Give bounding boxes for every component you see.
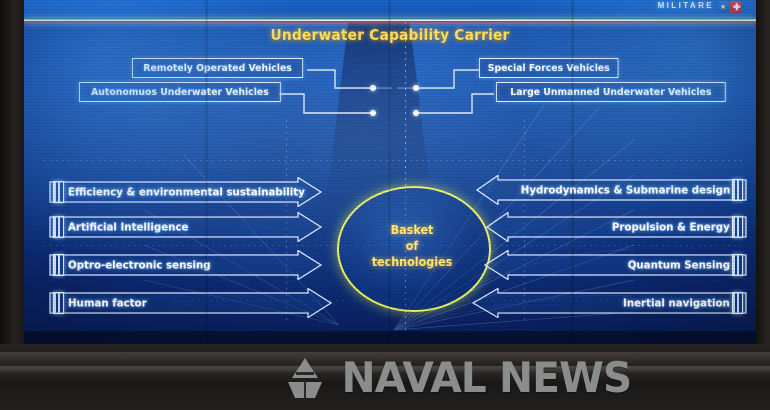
- center-line-1: Basket: [391, 224, 434, 238]
- right-arrow-hydrodynamics-submarine-design[interactable]: Hydrodynamics & Submarine design: [476, 175, 748, 205]
- top-box-label: Special Forces Vehicles: [488, 63, 610, 74]
- top-box-label: Remotely Operated Vehicles: [143, 63, 292, 74]
- right-arrow-label: Propulsion & Energy: [612, 221, 730, 234]
- arrow-end-cap: [732, 216, 743, 238]
- right-arrow-label: Quantum Sensing: [628, 259, 730, 272]
- connector-node: [370, 110, 376, 116]
- center-line-2: of: [406, 240, 419, 254]
- left-arrow-label: Human factor: [68, 297, 147, 310]
- right-arrow-quantum-sensing[interactable]: Quantum Sensing: [484, 250, 748, 280]
- top-box-large-unmanned-underwater-vehicles[interactable]: Large Unmanned Underwater Vehicles: [496, 82, 726, 102]
- left-arrow-artificial-intelligence[interactable]: Artificial Intelligence: [48, 212, 323, 242]
- naval-news-watermark: NAVAL NEWS: [282, 356, 636, 400]
- top-box-autonomous-underwater-vehicles[interactable]: Autonomuos Underwater Vehicles: [79, 82, 281, 102]
- top-box-label: Large Unmanned Underwater Vehicles: [510, 87, 711, 98]
- left-arrow-label: Artificial Intelligence: [68, 221, 188, 234]
- arrow-end-cap: [53, 292, 64, 314]
- italian-tricolor-stripe-icon: [24, 18, 756, 23]
- top-box-remotely-operated-vehicles[interactable]: Remotely Operated Vehicles: [132, 58, 303, 78]
- left-arrow-label: Efficiency & environmental sustainabilit…: [68, 186, 305, 199]
- right-arrow-label: Inertial navigation: [623, 297, 730, 310]
- right-arrow-label: Hydrodynamics & Submarine design: [520, 184, 730, 197]
- arrow-end-cap: [53, 181, 64, 203]
- led-wall-screen: MILITARE ★✚ Underwater Capability Carrie…: [24, 0, 756, 345]
- connector-node: [370, 85, 376, 91]
- arrow-end-cap: [732, 179, 743, 201]
- arrow-end-cap: [53, 216, 64, 238]
- left-arrow-label: Optro-electronic sensing: [68, 259, 211, 272]
- center-line-3: technologies: [372, 256, 453, 270]
- right-arrow-inertial-navigation[interactable]: Inertial navigation: [472, 288, 748, 318]
- top-box-label: Autonomuos Underwater Vehicles: [91, 87, 269, 98]
- basket-of-technologies-label: Basket of technologies: [342, 186, 482, 308]
- left-arrow-efficiency-environmental-sustainability[interactable]: Efficiency & environmental sustainabilit…: [48, 177, 323, 207]
- organization-label: MILITARE: [658, 1, 714, 10]
- page-title: Underwater Capability Carrier: [53, 26, 726, 44]
- italian-navy-emblem-icon: ★✚: [718, 1, 742, 13]
- arrow-end-cap: [53, 254, 64, 276]
- right-arrow-propulsion-energy[interactable]: Propulsion & Energy: [486, 212, 748, 242]
- ship-icon: [282, 356, 328, 400]
- top-box-special-forces-vehicles[interactable]: Special Forces Vehicles: [479, 58, 619, 78]
- watermark-text: NAVAL NEWS: [341, 357, 631, 399]
- arrow-end-cap: [732, 292, 743, 314]
- photo-of-presentation-screen: MILITARE ★✚ Underwater Capability Carrie…: [0, 0, 770, 410]
- left-arrow-optro-electronic-sensing[interactable]: Optro-electronic sensing: [48, 250, 323, 280]
- connector-node: [413, 110, 419, 116]
- arrow-end-cap: [732, 254, 743, 276]
- left-arrow-human-factor[interactable]: Human factor: [48, 288, 333, 318]
- connector-node: [413, 85, 419, 91]
